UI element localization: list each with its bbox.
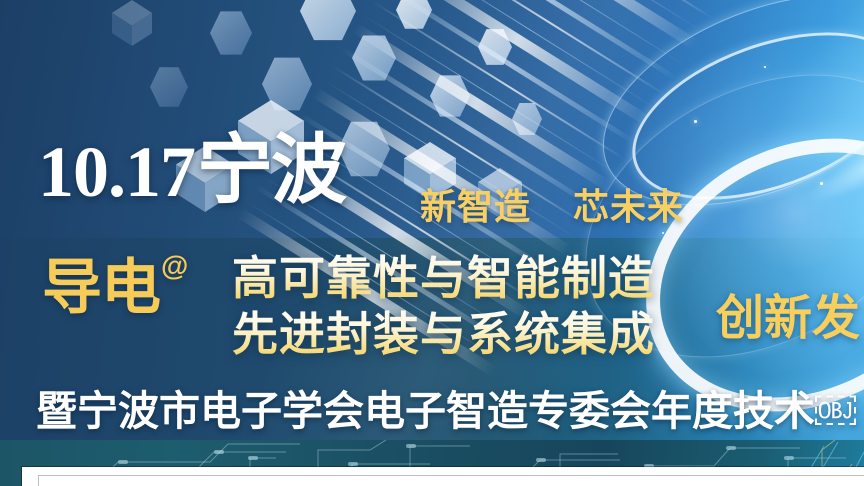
page-title: 高可靠性与智能制造 先进封装与系统集成 bbox=[232, 250, 655, 362]
event-city: 宁波 bbox=[197, 137, 345, 205]
slogan-left: 新智造 bbox=[420, 187, 531, 227]
event-date-row: 10.17 宁波 bbox=[38, 137, 345, 205]
at-mark-icon: @ bbox=[161, 250, 187, 281]
brand-name: 导电 bbox=[42, 254, 160, 321]
poster-banner: 10.17 宁波 新智造 芯未来 导电@ 高可靠性与智能制造 先进封装与系统集成… bbox=[0, 0, 864, 486]
brand-logo: 导电@ bbox=[42, 258, 186, 318]
side-headline: 创新发 bbox=[716, 295, 860, 343]
event-subtitle: 暨宁波市电子学会电子智造专委会年度技术￼ bbox=[36, 389, 856, 434]
event-date: 10.17 bbox=[38, 139, 195, 205]
content-panel bbox=[22, 467, 864, 486]
main-title-line-1: 高可靠性与智能制造 bbox=[232, 250, 655, 306]
content-panel-box bbox=[38, 475, 864, 486]
slogan-right: 芯未来 bbox=[573, 187, 684, 227]
event-slogan: 新智造 芯未来 bbox=[420, 178, 684, 230]
main-title-line-2: 先进封装与系统集成 bbox=[232, 306, 655, 362]
